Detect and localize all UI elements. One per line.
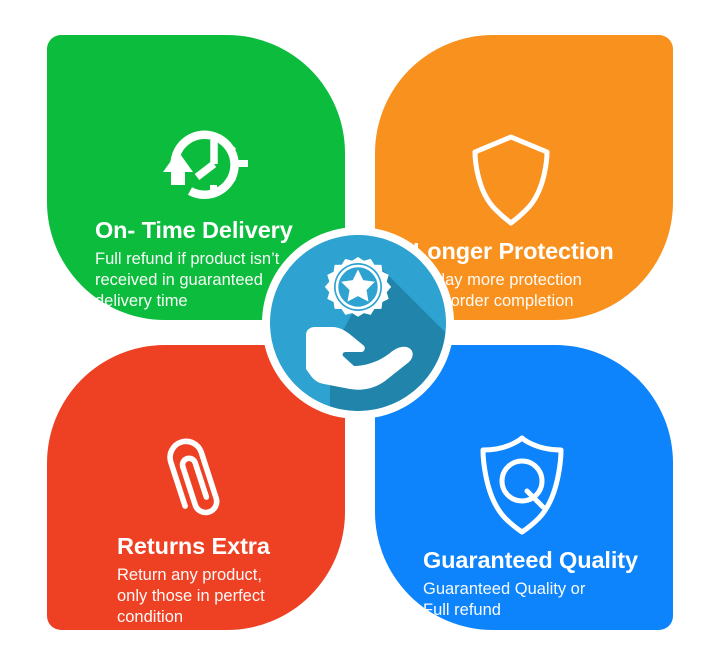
shield-icon: [468, 132, 673, 233]
panel-title: Longer Protection: [413, 239, 673, 265]
desc-line: Guaranteed Quality or: [423, 580, 585, 598]
infographic-root: On- Time Delivery Full refund if product…: [0, 0, 720, 649]
panel-title: Guaranteed Quality: [423, 548, 673, 574]
center-badge[interactable]: [262, 227, 454, 419]
panel-content: Returns Extra Return any product, only t…: [47, 433, 345, 628]
panel-description: Guaranteed Quality or Full refund: [423, 579, 673, 621]
desc-line: only those in perfect: [117, 587, 265, 605]
panel-content: Guaranteed Quality Guaranteed Quality or…: [375, 433, 673, 621]
desc-line: Full refund: [423, 601, 501, 619]
desc-line: delivery time: [95, 292, 188, 310]
panel-description: Return any product, only those in perfec…: [117, 565, 345, 628]
panel-title: Returns Extra: [117, 534, 345, 560]
clock-arrow-icon: [152, 119, 345, 212]
desc-line: Full refund if product isn’t: [95, 250, 279, 268]
center-disc: [270, 235, 446, 411]
desc-line: received in guaranteed: [95, 271, 263, 289]
paperclip-icon: [155, 433, 345, 528]
desc-line: Return any product,: [117, 566, 262, 584]
shield-q-quality-icon: [475, 433, 673, 542]
desc-line: condition: [117, 608, 183, 626]
star-medal: [325, 257, 391, 317]
